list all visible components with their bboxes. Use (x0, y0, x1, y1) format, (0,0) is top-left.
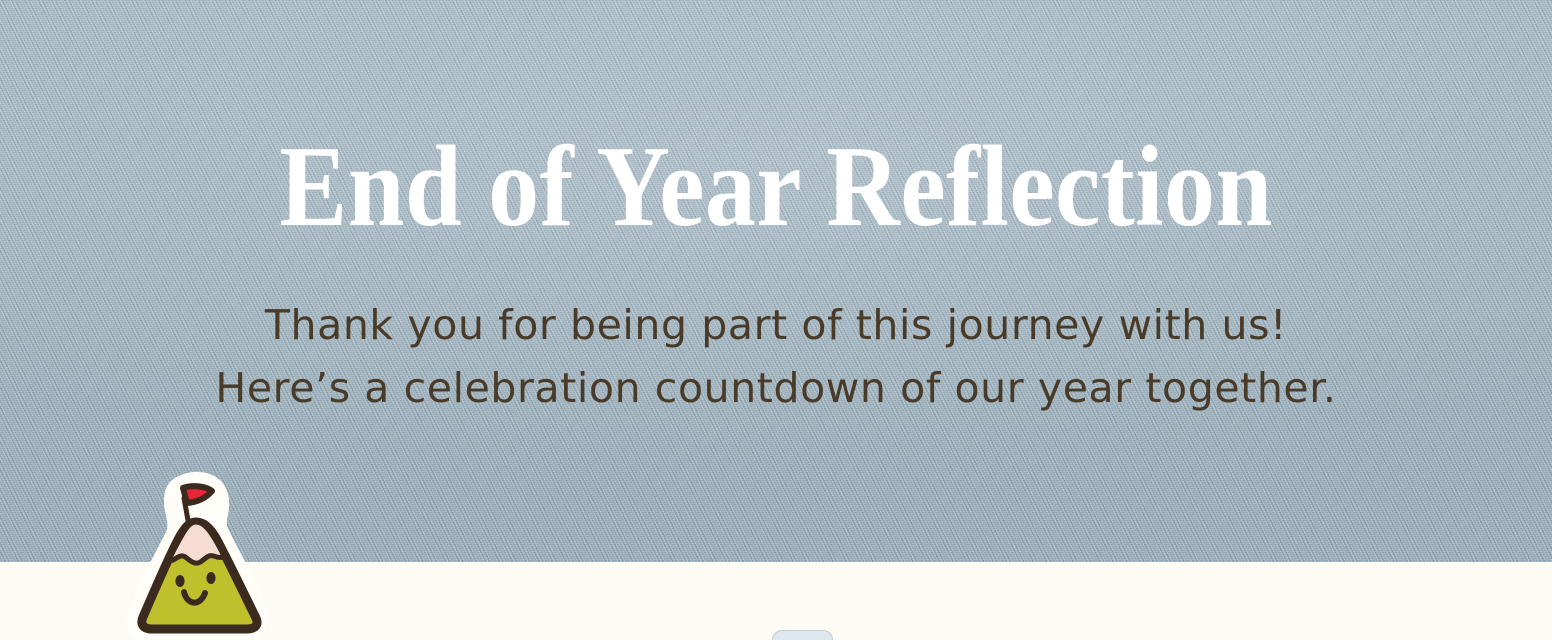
bottom-pill-element[interactable] (772, 630, 833, 640)
page-subtitle: Thank you for being part of this journey… (0, 294, 1552, 420)
page-title: End of Year Reflection (93, 129, 1459, 245)
mountain-right-eye (206, 572, 215, 584)
mountain-sticker (112, 462, 284, 640)
subtitle-line-2: Here’s a celebration countdown of our ye… (0, 357, 1552, 420)
page-root: End of Year Reflection Thank you for bei… (0, 0, 1552, 640)
mountain-left-eye (175, 575, 184, 587)
subtitle-line-1: Thank you for being part of this journey… (0, 294, 1552, 357)
